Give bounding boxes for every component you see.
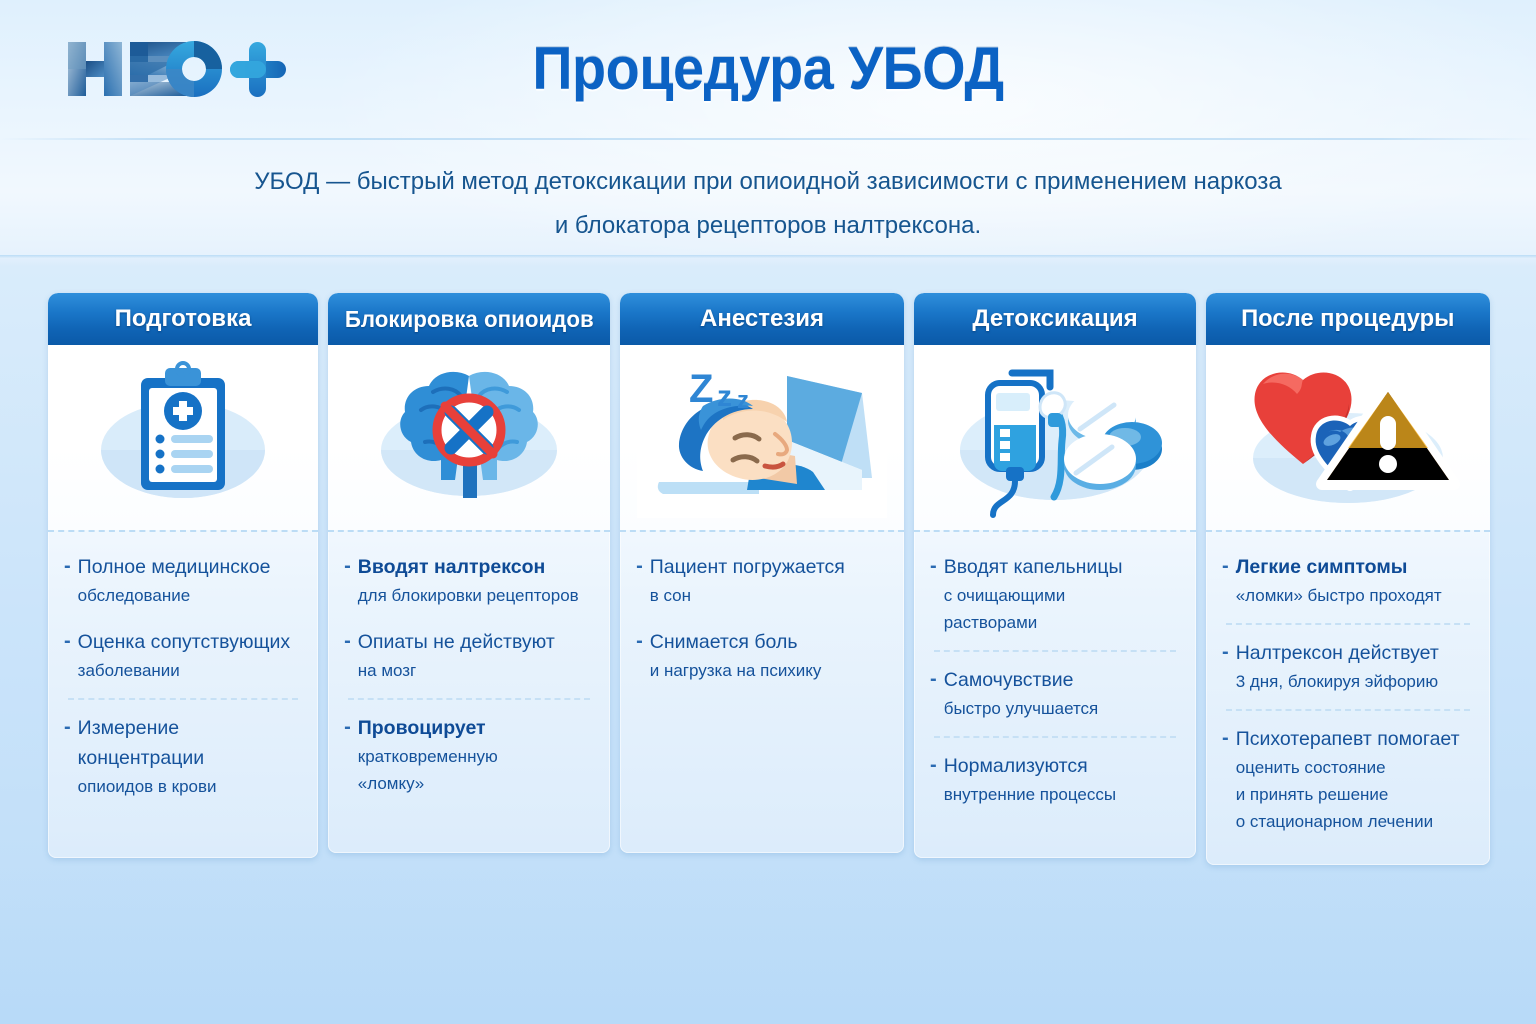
card-title: Блокировка опиоидов	[345, 306, 594, 333]
bullet-main: Снимается боль	[650, 631, 798, 653]
list-item: - Налтрексон действует 3 дня, блокируя э…	[1220, 638, 1476, 695]
bullet-main: Пациент погружается	[650, 556, 845, 578]
list-item: - Опиаты не действуют на мозг	[342, 627, 596, 684]
bullet-list: - Полное медицинское обследование - Оцен…	[48, 532, 318, 858]
bullet-marker: -	[636, 552, 643, 581]
bullet-main: Нормализуются	[944, 755, 1088, 777]
bullet-main: Опиаты не действуют	[358, 631, 555, 653]
bullet-main: Вводят налтрексон	[358, 552, 579, 582]
bullet-text: Вводят налтрексон для блокировки рецепто…	[358, 552, 579, 609]
bullet-list: - Легкие симптомы «ломки» быстро проходя…	[1206, 532, 1490, 865]
bullet-text: Вводят капельницы с очищающими растворам…	[944, 552, 1123, 636]
bullet-gap	[62, 609, 304, 627]
list-item: - Нормализуются внутренние процессы	[928, 751, 1182, 808]
list-item: - Вводят налтрексон для блокировки рецеп…	[342, 552, 596, 609]
bottom-gradient	[0, 864, 1536, 1024]
bullet-main: Полное медицинское	[78, 556, 271, 578]
bullet-main: Самочувствие	[944, 669, 1074, 691]
steps-row: Подготовка	[48, 293, 1490, 871]
bullet-main: Измерение концентрации	[78, 717, 205, 769]
bullet-text: Налтрексон действует 3 дня, блокируя эйф…	[1236, 638, 1439, 695]
sleeping-patient-icon: Z z z	[620, 345, 904, 530]
card-header-preparation: Подготовка	[48, 293, 318, 345]
bullet-marker: -	[344, 713, 351, 742]
bullet-separator	[934, 736, 1176, 738]
subtitle-line-1: УБОД — быстрый метод детоксикации при оп…	[254, 168, 1281, 195]
bullet-text: Самочувствие быстро улучшается	[944, 665, 1099, 722]
bullet-text: Провоцирует кратковременную «ломку»	[358, 713, 498, 797]
bullet-marker: -	[344, 552, 351, 581]
list-item: - Психотерапевт помогает оценить состоян…	[1220, 724, 1476, 835]
bullet-separator	[934, 650, 1176, 652]
step-card-preparation[interactable]: Подготовка	[48, 293, 318, 858]
bullet-sub: кратковременную «ломку»	[358, 743, 498, 797]
card-header-opioid-blocking: Блокировка опиоидов	[328, 293, 610, 345]
bullet-text: Снимается боль и нагрузка на психику	[650, 627, 822, 684]
list-item: - Оценка сопутствующих заболевании	[62, 627, 304, 684]
subtitle-line-2: и блокатора рецепторов налтрексона.	[143, 204, 1393, 248]
infographic-page: Процедура УБОД УБОД — быстрый метод дето…	[0, 0, 1536, 1024]
bullet-main: Налтрексон действует	[1236, 642, 1439, 664]
list-item: - Самочувствие быстро улучшается	[928, 665, 1182, 722]
list-item: - Пациент погружается в сон	[634, 552, 890, 609]
hearts-warning-icon	[1206, 345, 1490, 530]
list-item: - Вводят капельницы с очищающими раствор…	[928, 552, 1182, 636]
bullet-marker: -	[1222, 638, 1229, 667]
step-card-opioid-blocking[interactable]: Блокировка опиоидов	[328, 293, 610, 853]
bullet-marker: -	[64, 627, 71, 656]
bullet-sub: оценить состояние и принять решение о ст…	[1236, 754, 1460, 835]
list-item: - Снимается боль и нагрузка на психику	[634, 627, 890, 684]
bullet-text: Нормализуются внутренние процессы	[944, 751, 1116, 808]
header-divider-bottom	[0, 255, 1536, 258]
bullet-marker: -	[64, 552, 71, 581]
bullet-separator	[68, 698, 298, 700]
clipboard-medical-icon	[48, 345, 318, 530]
bullet-text: Полное медицинское обследование	[78, 552, 271, 609]
bullet-main: Оценка сопутствующих	[78, 631, 290, 653]
step-card-detox[interactable]: Детоксикация	[914, 293, 1196, 858]
step-card-after-procedure[interactable]: После процедуры	[1206, 293, 1490, 865]
bullet-sub: на мозг	[358, 657, 555, 684]
bullet-sub: внутренние процессы	[944, 781, 1116, 808]
svg-text:Z: Z	[689, 367, 713, 411]
bullet-gap	[342, 609, 596, 627]
card-title: Подготовка	[115, 305, 252, 333]
bullet-marker: -	[930, 751, 937, 780]
bullet-marker: -	[344, 627, 351, 656]
bullet-main: Психотерапевт помогает	[1236, 728, 1460, 750]
card-title: Детоксикация	[972, 305, 1137, 333]
card-header-anesthesia: Анестезия	[620, 293, 904, 345]
bullet-text: Пациент погружается в сон	[650, 552, 845, 609]
list-item: - Полное медицинское обследование	[62, 552, 304, 609]
svg-text:z: z	[737, 387, 749, 414]
list-item: - Измерение концентрации опиоидов в кров…	[62, 713, 304, 800]
bullet-sub: «ломки» быстро проходят	[1236, 582, 1442, 609]
step-card-anesthesia[interactable]: Анестезия	[620, 293, 904, 853]
bullet-marker: -	[1222, 552, 1229, 581]
bullet-sub: быстро улучшается	[944, 695, 1099, 722]
bullet-list: - Вводят налтрексон для блокировки рецеп…	[328, 532, 610, 853]
list-item: - Легкие симптомы «ломки» быстро проходя…	[1220, 552, 1476, 609]
bullet-marker: -	[64, 713, 71, 742]
bullet-gap	[634, 609, 890, 627]
bullet-marker: -	[930, 665, 937, 694]
bullet-sub: обследование	[78, 582, 271, 609]
bullet-main: Провоцирует	[358, 713, 498, 743]
bullet-sub: для блокировки рецепторов	[358, 582, 579, 609]
bullet-marker: -	[1222, 724, 1229, 753]
list-item: - Провоцирует кратковременную «ломку»	[342, 713, 596, 797]
bullet-separator	[348, 698, 590, 700]
card-header-detox: Детоксикация	[914, 293, 1196, 345]
header-divider-top	[0, 138, 1536, 140]
card-title: После процедуры	[1241, 305, 1454, 333]
bullet-list: - Пациент погружается в сон - Снимается …	[620, 532, 904, 853]
page-subtitle: УБОД — быстрый метод детоксикации при оп…	[143, 160, 1393, 248]
bullet-separator	[1226, 709, 1470, 711]
bullet-sub: в сон	[650, 582, 845, 609]
bullet-marker: -	[930, 552, 937, 581]
bullet-sub: заболевании	[78, 657, 290, 684]
bullet-sub: с очищающими растворами	[944, 582, 1123, 636]
card-title: Анестезия	[700, 305, 824, 333]
bullet-main: Легкие симптомы	[1236, 552, 1442, 582]
brain-blocked-icon	[328, 345, 610, 530]
bullet-text: Психотерапевт помогает оценить состояние…	[1236, 724, 1460, 835]
bullet-sub: и нагрузка на психику	[650, 657, 822, 684]
bullet-text: Оценка сопутствующих заболевании	[78, 627, 290, 684]
card-header-after-procedure: После процедуры	[1206, 293, 1490, 345]
page-title: Процедура УБОД	[54, 34, 1482, 103]
bullet-list: - Вводят капельницы с очищающими раствор…	[914, 532, 1196, 858]
svg-text:z: z	[717, 380, 732, 413]
iv-drip-pills-icon	[914, 345, 1196, 530]
bullet-text: Измерение концентрации опиоидов в крови	[78, 713, 304, 800]
bullet-text: Легкие симптомы «ломки» быстро проходят	[1236, 552, 1442, 609]
bullet-separator	[1226, 623, 1470, 625]
bullet-main: Вводят капельницы	[944, 556, 1123, 578]
bullet-text: Опиаты не действуют на мозг	[358, 627, 555, 684]
bullet-marker: -	[636, 627, 643, 656]
bullet-sub: 3 дня, блокируя эйфорию	[1236, 668, 1439, 695]
bullet-sub: опиоидов в крови	[78, 773, 304, 800]
